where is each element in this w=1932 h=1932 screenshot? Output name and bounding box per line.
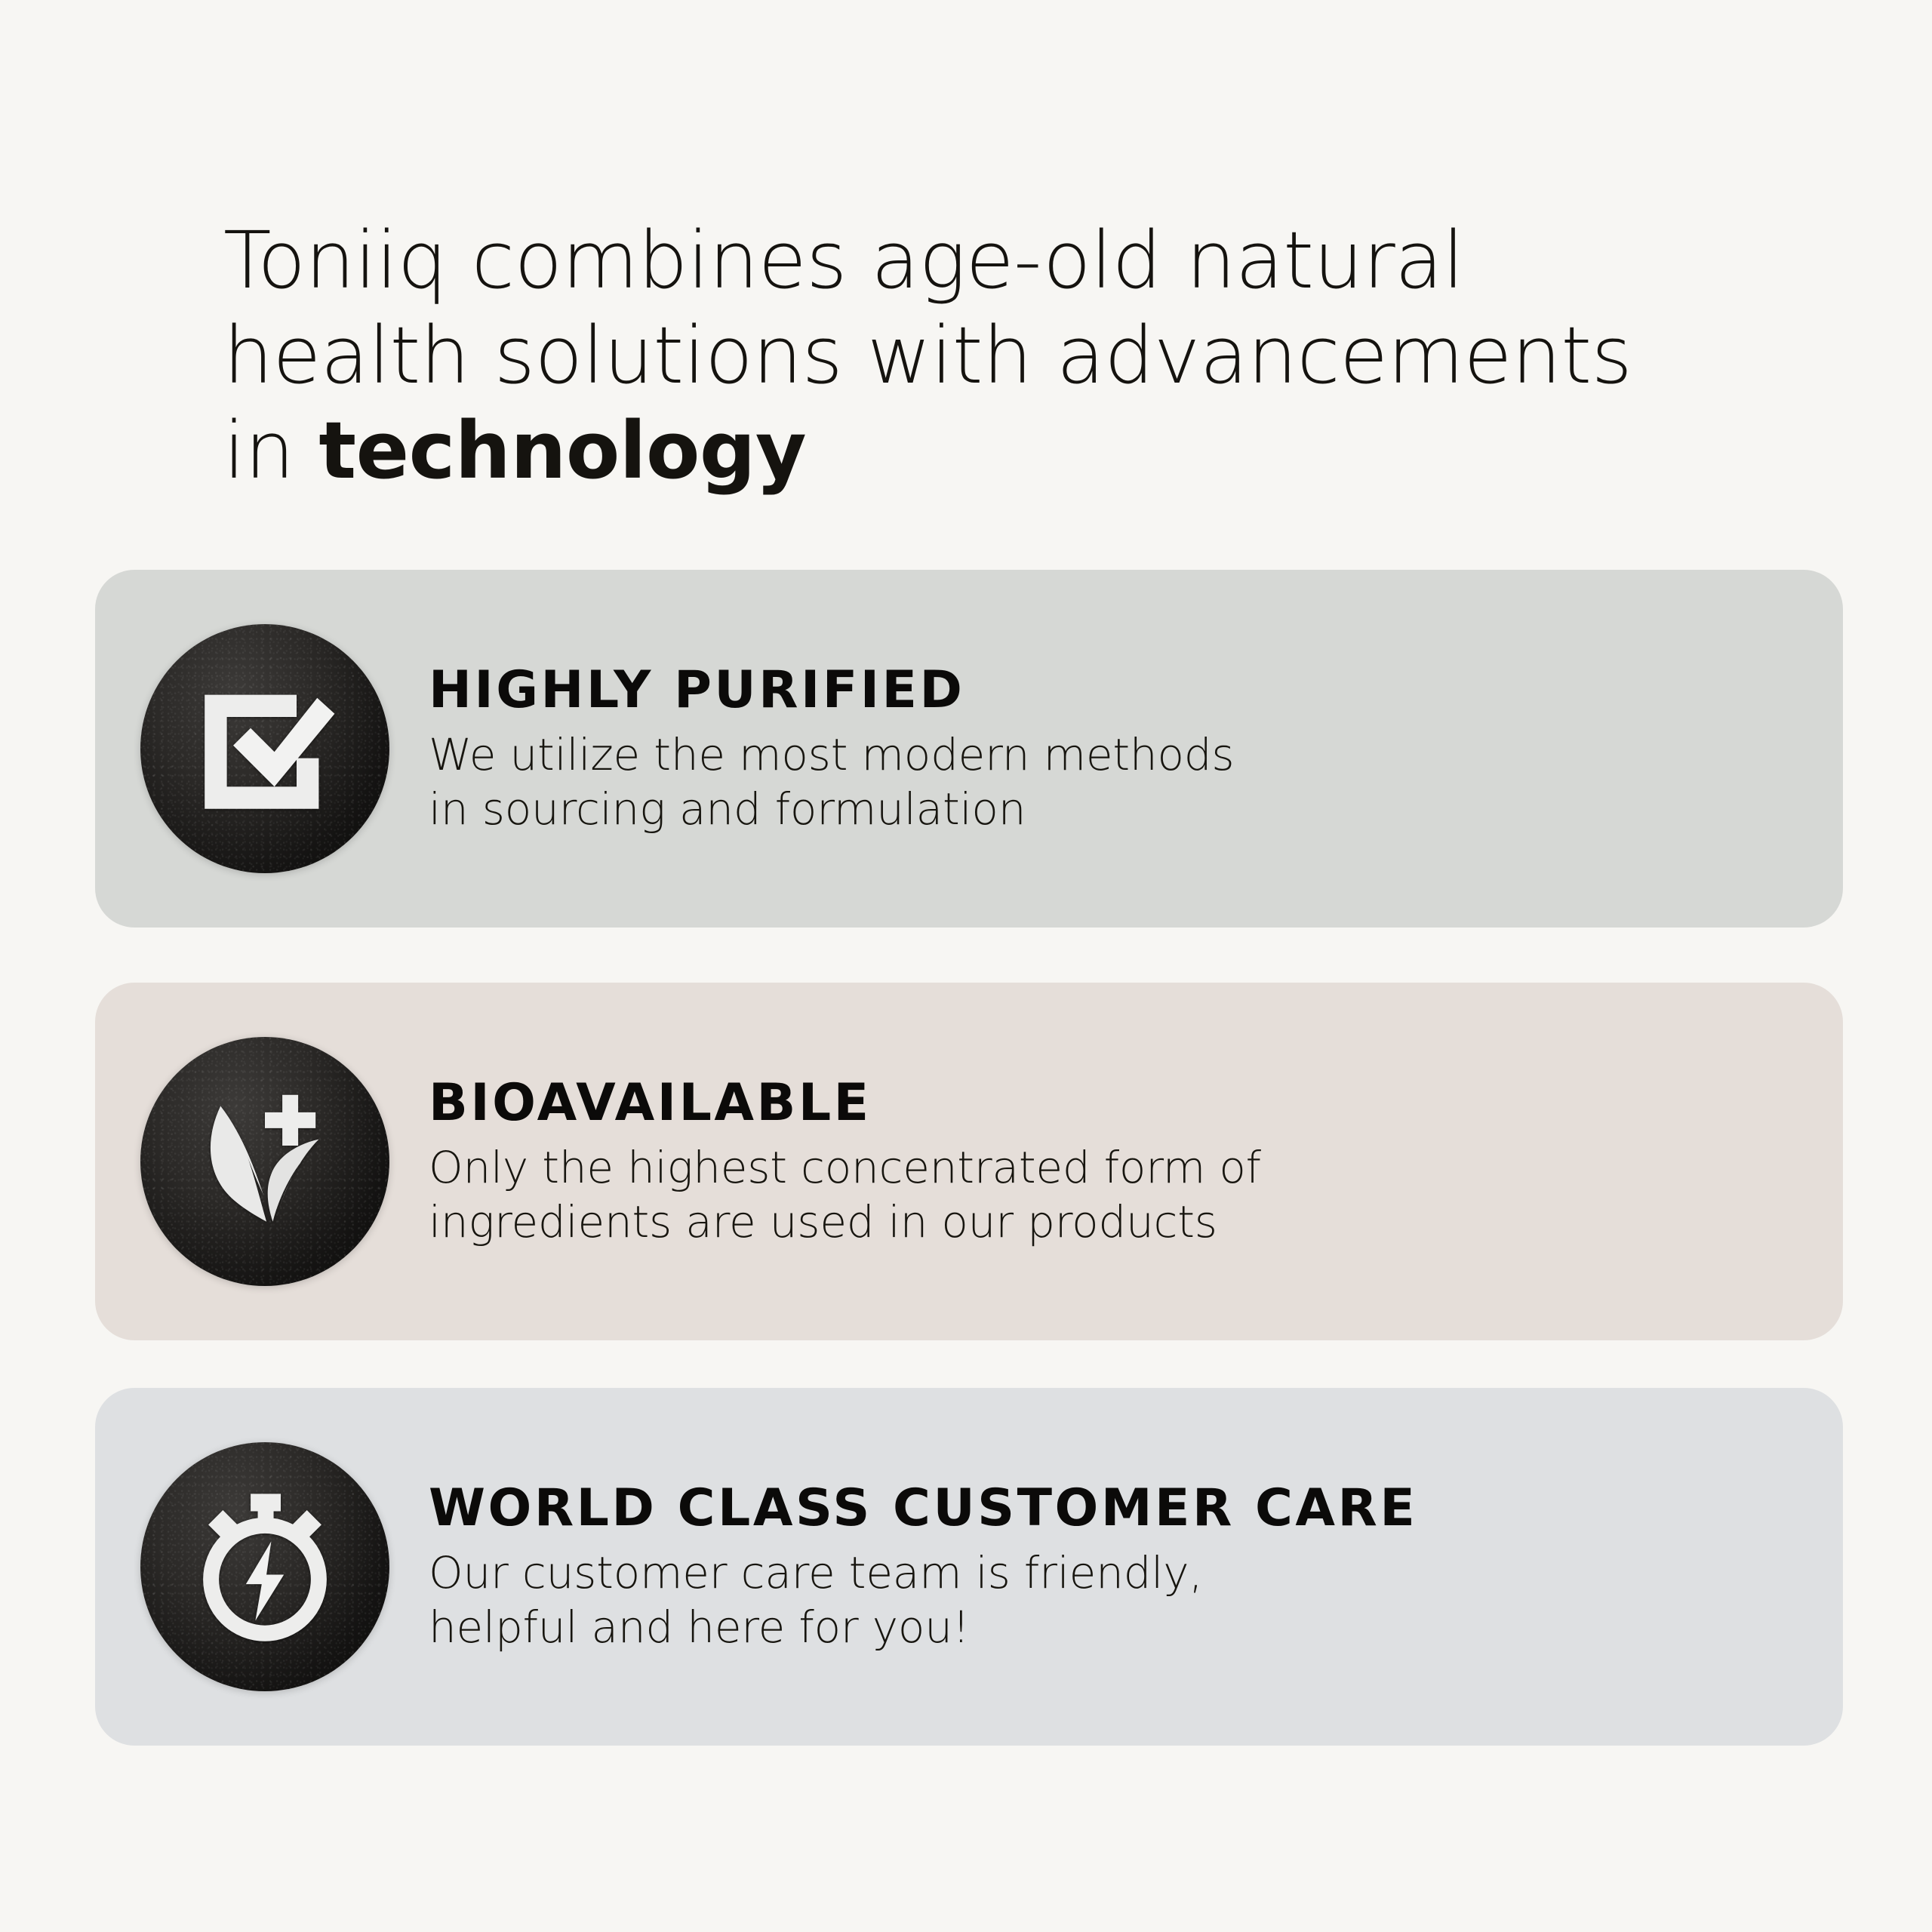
headline-line-3-prefix: in: [223, 405, 318, 497]
card-text-block: BIOAVAILABLE Only the highest concentrat…: [429, 1074, 1843, 1249]
headline-line-2: health solutions with advancements: [223, 309, 1632, 401]
headline-emphasis: technology: [318, 405, 806, 497]
stopwatch-bolt-icon: [140, 1442, 389, 1691]
page-title: Toniiq combines age-old natural health s…: [223, 213, 1657, 498]
card-title: BIOAVAILABLE: [429, 1074, 1798, 1133]
card-description: Our customer care team is friendly, help…: [429, 1546, 1798, 1654]
card-content: BIOAVAILABLE Only the highest concentrat…: [95, 983, 1843, 1340]
feature-card-world-class-customer-care: WORLD CLASS CUSTOMER CARE Our customer c…: [95, 1388, 1843, 1746]
icon-container: [137, 1442, 392, 1691]
card-text-block: HIGHLY PURIFIED We utilize the most mode…: [429, 661, 1843, 836]
leaf-plus-icon: [140, 1037, 389, 1286]
feature-card-bioavailable: BIOAVAILABLE Only the highest concentrat…: [95, 983, 1843, 1340]
card-description: We utilize the most modern methods in so…: [429, 728, 1798, 836]
card-title: HIGHLY PURIFIED: [429, 661, 1798, 720]
icon-container: [137, 1037, 392, 1286]
feature-card-highly-purified: HIGHLY PURIFIED We utilize the most mode…: [95, 570, 1843, 928]
card-content: WORLD CLASS CUSTOMER CARE Our customer c…: [95, 1388, 1843, 1746]
checkbox-check-icon: [140, 624, 389, 873]
card-text-block: WORLD CLASS CUSTOMER CARE Our customer c…: [429, 1479, 1843, 1654]
card-title: WORLD CLASS CUSTOMER CARE: [429, 1479, 1798, 1538]
headline-line-1: Toniiq combines age-old natural: [223, 214, 1464, 306]
promo-page: Toniiq combines age-old natural health s…: [0, 0, 1932, 1932]
icon-container: [137, 624, 392, 873]
card-content: HIGHLY PURIFIED We utilize the most mode…: [95, 570, 1843, 928]
card-description: Only the highest concentrated form of in…: [429, 1140, 1798, 1249]
